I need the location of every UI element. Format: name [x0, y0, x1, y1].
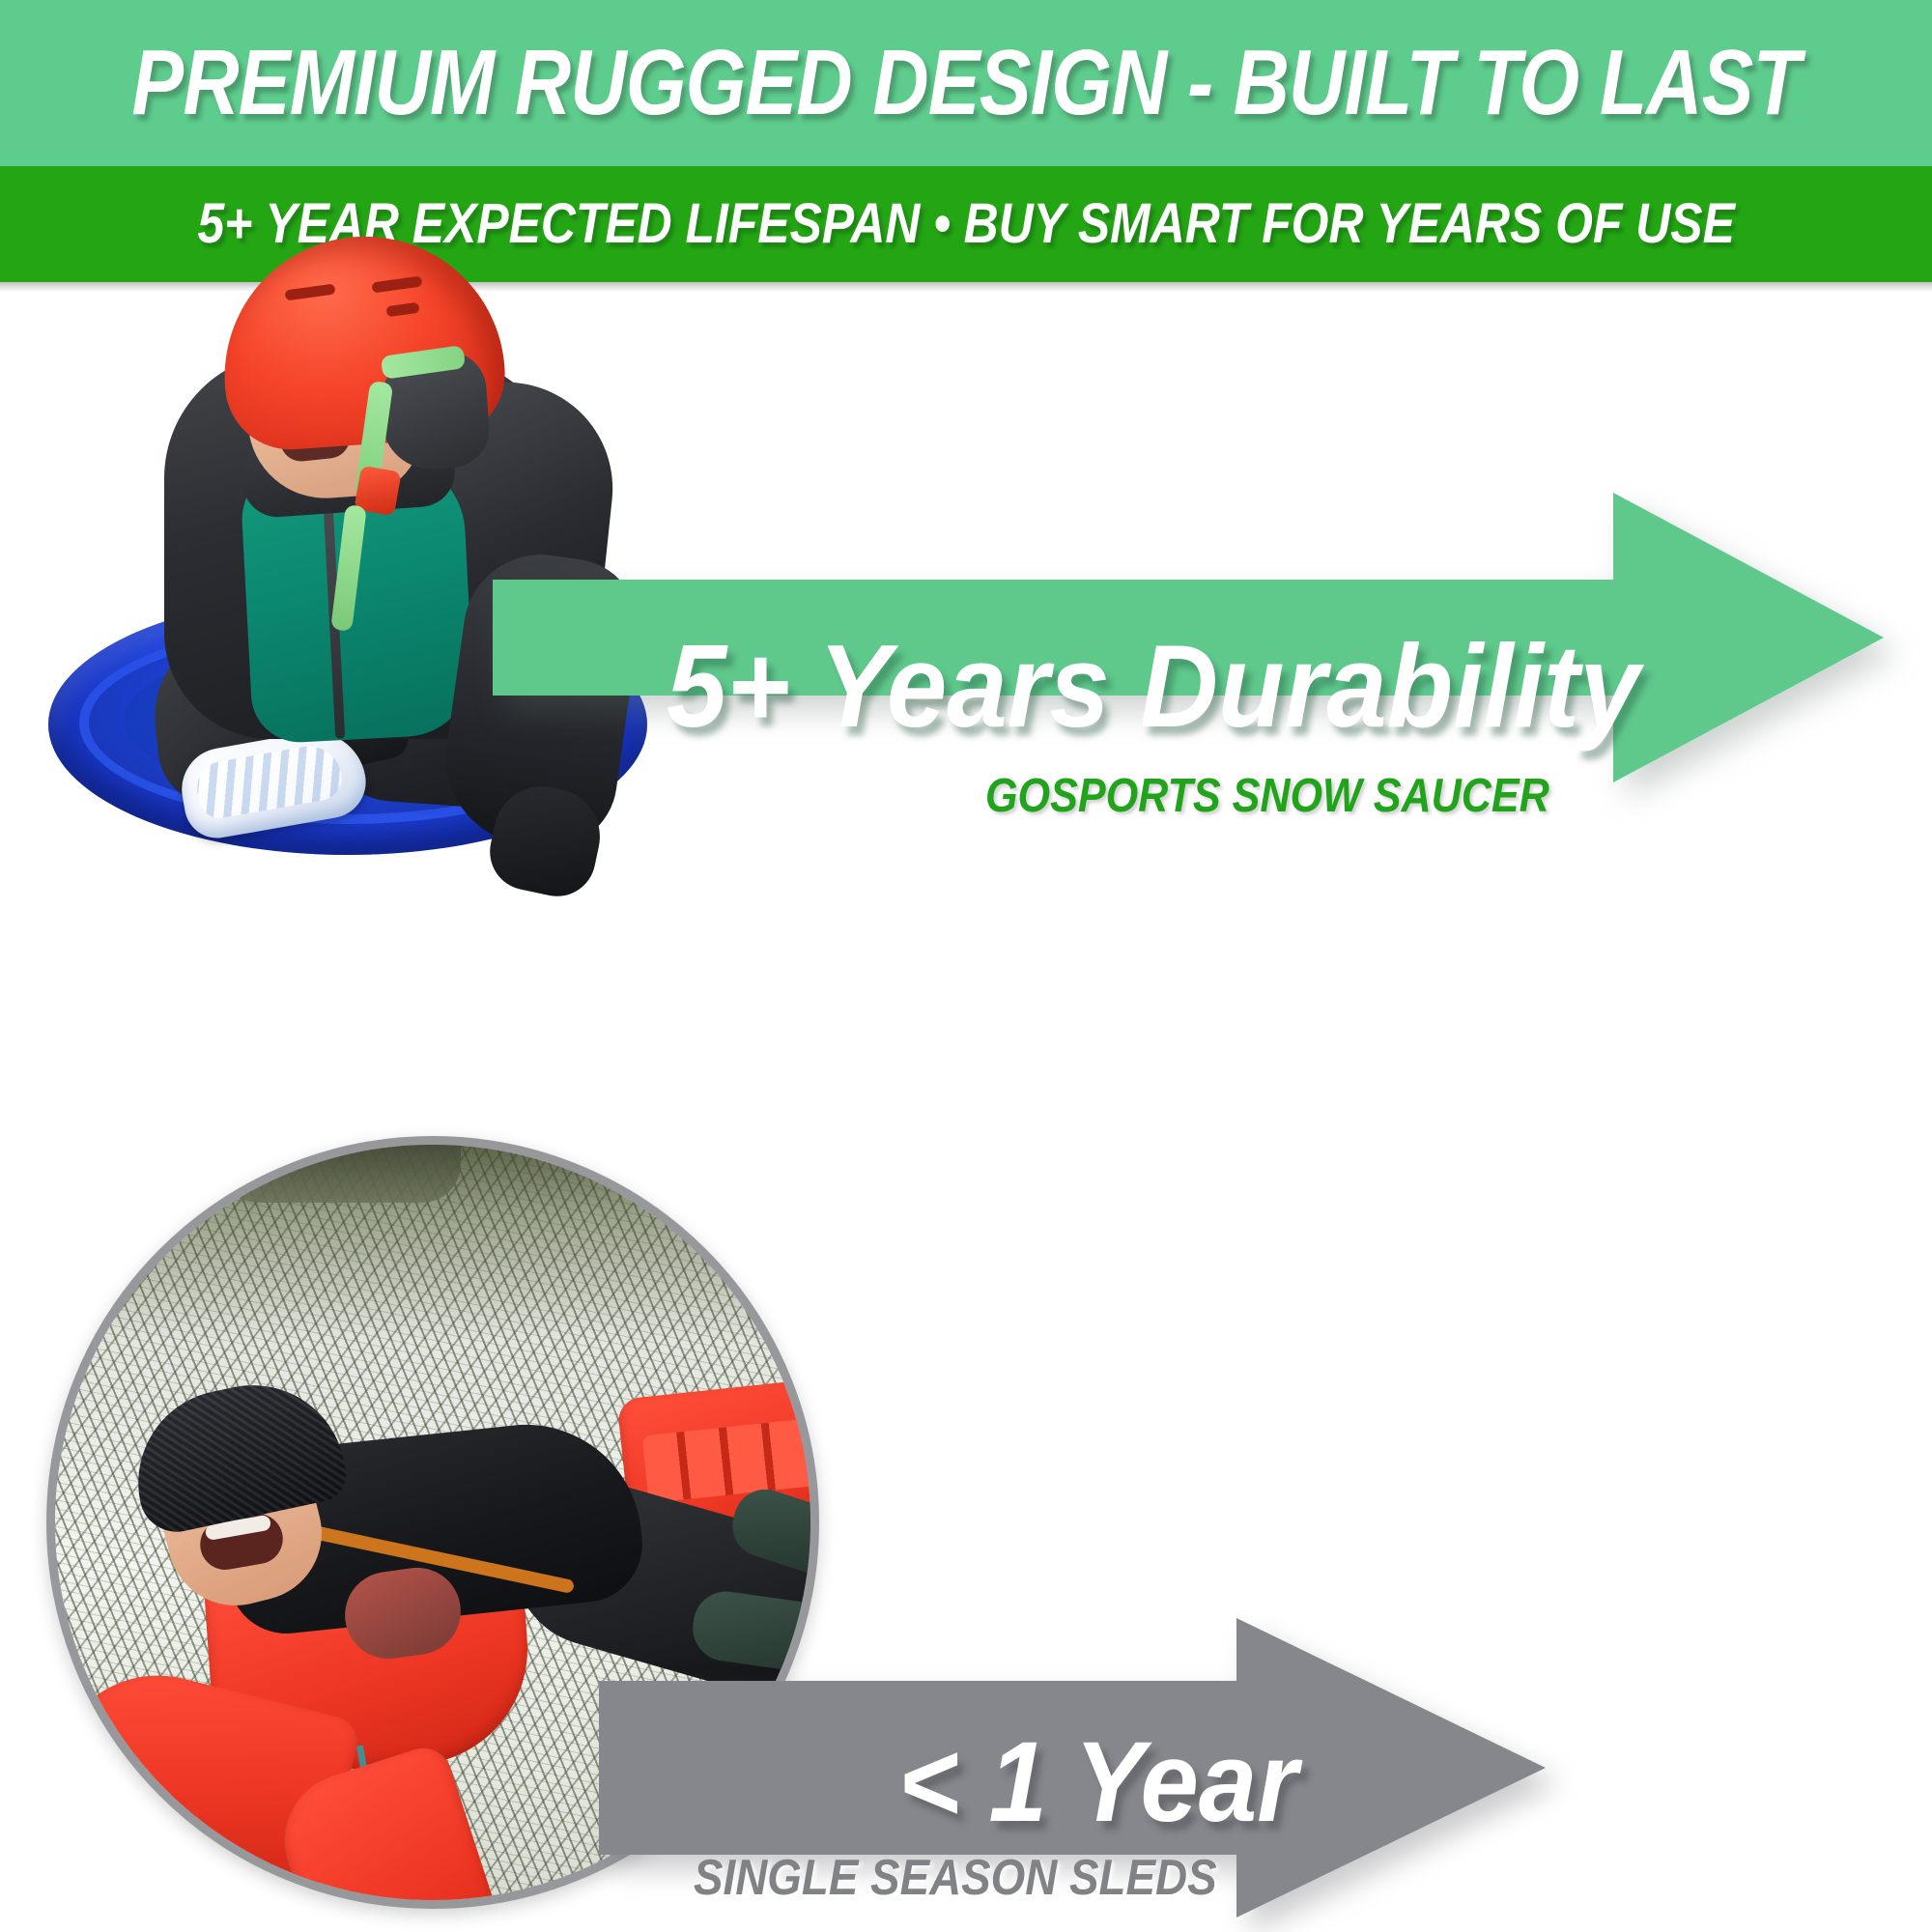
page-title: PREMIUM RUGGED DESIGN - BUILT TO LAST	[132, 37, 1801, 129]
infographic-page: PREMIUM RUGGED DESIGN - BUILT TO LAST 5+…	[0, 0, 1932, 1932]
caption-gosports-snow-saucer: GOSPORTS SNOW SAUCER	[985, 773, 1547, 820]
background-treeline	[219, 1136, 461, 1203]
caption-single-season-sleds: SINGLE SEASON SLEDS	[694, 1853, 1289, 1903]
header-title-band: PREMIUM RUGGED DESIGN - BUILT TO LAST	[0, 0, 1932, 166]
